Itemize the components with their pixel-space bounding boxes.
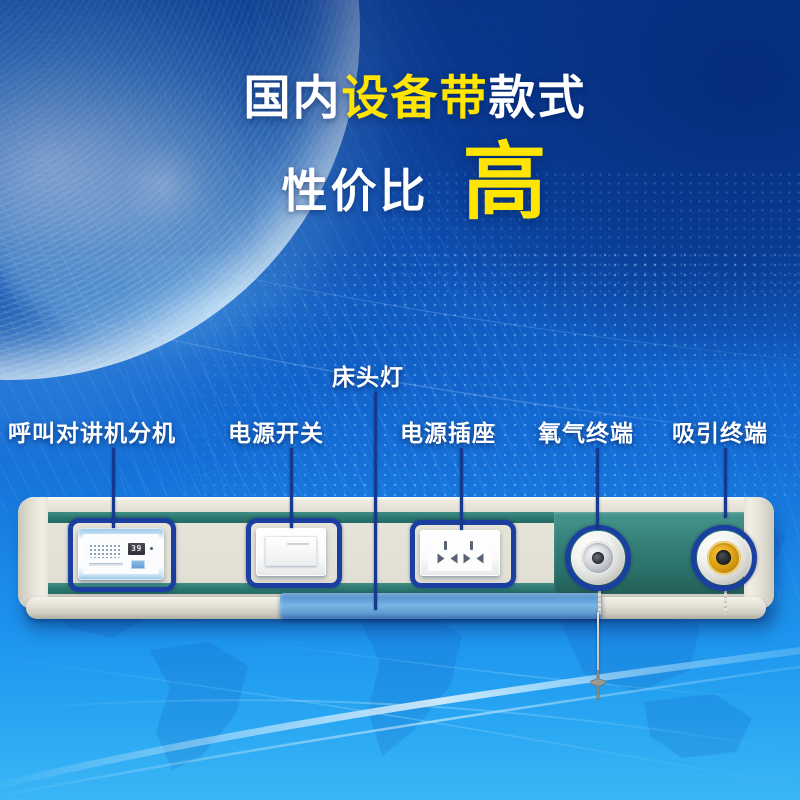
callout-layer: 呼叫对讲机分机 电源开关 床头灯 电源插座 氧气终端 吸引终端 xyxy=(0,0,800,800)
callout-label-suction: 吸引终端 xyxy=(672,414,768,448)
callout-label-intercom: 呼叫对讲机分机 xyxy=(8,414,176,448)
promo-poster: 国内设备带款式 性价比 高 呼叫对讲机分机 电源开关 床头灯 电源插座 氧气终端… xyxy=(0,0,800,800)
callout-label-bed-lamp: 床头灯 xyxy=(332,358,404,392)
leader-line-intercom xyxy=(112,448,115,528)
callout-label-oxygen: 氧气终端 xyxy=(538,414,634,448)
leader-line-power-socket xyxy=(460,448,463,530)
leader-line-power-switch xyxy=(290,448,293,528)
callout-label-power-switch: 电源开关 xyxy=(228,414,324,448)
leader-line-bed-lamp xyxy=(374,392,377,610)
leader-line-oxygen xyxy=(596,448,599,530)
callout-label-power-socket: 电源插座 xyxy=(400,414,496,448)
leader-line-suction xyxy=(724,448,727,518)
